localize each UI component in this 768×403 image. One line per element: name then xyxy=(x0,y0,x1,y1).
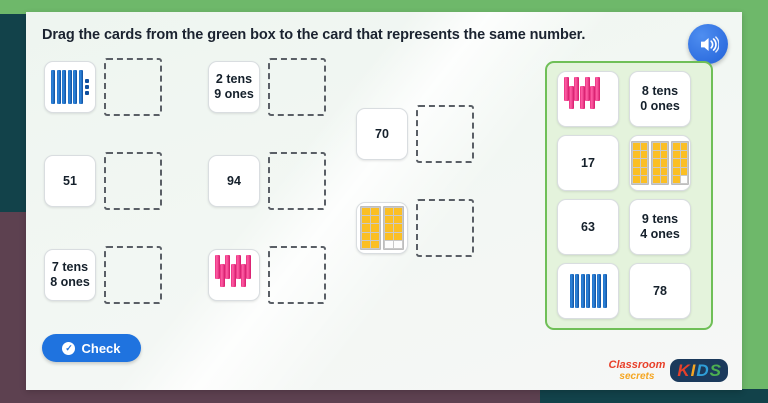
card-label: 94 xyxy=(225,174,243,189)
brand-line-1: Classroom xyxy=(609,360,666,371)
drop-slot[interactable] xyxy=(416,105,474,163)
rod xyxy=(580,86,585,109)
rod xyxy=(62,70,66,104)
counter-cell xyxy=(633,168,640,175)
bank-card[interactable]: 78 xyxy=(629,263,691,319)
counter-cell xyxy=(385,241,393,248)
counter-cell xyxy=(362,216,370,223)
card-label: 8 tens0 ones xyxy=(638,84,682,114)
counter-cell xyxy=(641,176,648,183)
card-label: 7 tens8 ones xyxy=(48,260,92,290)
counter-cell xyxy=(362,208,370,215)
rod xyxy=(574,77,579,101)
counter-cell xyxy=(653,168,660,175)
counter-cell xyxy=(661,143,668,150)
counter-cell xyxy=(673,168,680,175)
counter-cell xyxy=(673,143,680,150)
counter-cell xyxy=(681,151,688,158)
check-button-label: Check xyxy=(81,341,120,356)
bank-card[interactable] xyxy=(629,135,691,191)
target-card[interactable] xyxy=(44,61,96,113)
counter-cell xyxy=(641,159,648,166)
page-title: Drag the cards from the green box to the… xyxy=(42,26,682,44)
bank-card[interactable]: 9 tens4 ones xyxy=(629,199,691,255)
counter-cell xyxy=(633,143,640,150)
counter-cell xyxy=(362,241,370,248)
card-label: 17 xyxy=(579,156,597,171)
app-frame: Drag the cards from the green box to the… xyxy=(0,0,768,403)
target-card[interactable] xyxy=(356,202,408,254)
counter-cell xyxy=(681,176,688,183)
kids-letter-s: S xyxy=(710,362,721,379)
kids-logo: K I D S xyxy=(670,359,728,382)
counter-cell xyxy=(661,176,668,183)
drop-slot[interactable] xyxy=(416,199,474,257)
drop-slot[interactable] xyxy=(104,246,162,304)
kids-letter-i: I xyxy=(691,362,696,379)
counter-cell xyxy=(661,168,668,175)
counter-cell xyxy=(394,216,402,223)
ten-frames xyxy=(357,203,407,253)
target-card[interactable] xyxy=(208,249,260,301)
counter-cell xyxy=(641,151,648,158)
check-circle-icon: ✓ xyxy=(62,342,75,355)
drop-slot[interactable] xyxy=(104,152,162,210)
rod xyxy=(581,274,585,308)
kids-letter-k: K xyxy=(677,362,689,379)
bank-card[interactable]: 8 tens0 ones xyxy=(629,71,691,127)
target-card[interactable]: 2 tens9 ones xyxy=(208,61,260,113)
counter-cell xyxy=(362,233,370,240)
classroom-secrets-logo: Classroom secrets xyxy=(609,360,666,382)
counter-cell xyxy=(641,143,648,150)
counter-cell xyxy=(362,224,370,231)
bank-card[interactable] xyxy=(557,71,619,127)
counter-cell xyxy=(385,224,393,231)
rod xyxy=(79,70,83,104)
counter-cell xyxy=(653,143,660,150)
rod xyxy=(68,70,72,104)
counter-cell xyxy=(641,168,648,175)
counter-cell xyxy=(371,241,379,248)
bank-card[interactable] xyxy=(557,263,619,319)
counter-cell xyxy=(385,208,393,215)
rod xyxy=(246,255,251,279)
counter-cell xyxy=(661,151,668,158)
bank-card[interactable]: 63 xyxy=(557,199,619,255)
counter-cell xyxy=(394,224,402,231)
rod xyxy=(51,70,55,104)
counter-cell xyxy=(385,233,393,240)
rod xyxy=(603,274,607,308)
rod xyxy=(595,77,600,101)
drop-slot[interactable] xyxy=(268,58,326,116)
frame-edge-bottom-purple xyxy=(0,389,556,403)
rod xyxy=(586,274,590,308)
one-cube xyxy=(85,91,89,95)
drop-slot[interactable] xyxy=(104,58,162,116)
frame-edge-bottom-teal xyxy=(540,389,768,403)
counter-cell xyxy=(653,159,660,166)
base-ten-rods xyxy=(558,72,618,126)
counter-cell xyxy=(673,151,680,158)
rod xyxy=(73,70,77,104)
rod xyxy=(575,274,579,308)
rod xyxy=(597,274,601,308)
ten-frame xyxy=(671,141,689,185)
card-label: 63 xyxy=(579,220,597,235)
counter-cell xyxy=(653,151,660,158)
target-card[interactable]: 51 xyxy=(44,155,96,207)
check-button[interactable]: ✓ Check xyxy=(42,334,141,362)
footer-logos: Classroom secrets K I D S xyxy=(609,359,729,382)
counter-cell xyxy=(633,159,640,166)
card-label: 2 tens9 ones xyxy=(212,72,256,102)
card-label: 51 xyxy=(61,174,79,189)
card-label: 78 xyxy=(651,284,669,299)
counter-cell xyxy=(371,208,379,215)
card-label: 70 xyxy=(373,127,391,142)
bank-card[interactable]: 17 xyxy=(557,135,619,191)
counter-cell xyxy=(394,233,402,240)
counter-cell xyxy=(653,176,660,183)
rod xyxy=(231,264,236,287)
target-card[interactable]: 70 xyxy=(356,108,408,160)
counter-cell xyxy=(681,159,688,166)
counter-cell xyxy=(385,216,393,223)
counter-cell xyxy=(371,216,379,223)
rod xyxy=(225,255,230,279)
counter-cell xyxy=(371,224,379,231)
counter-cell xyxy=(681,168,688,175)
rod xyxy=(57,70,61,104)
ten-frame xyxy=(383,206,404,250)
ten-frames xyxy=(630,136,690,190)
one-cube xyxy=(85,79,89,83)
counter-cell xyxy=(633,176,640,183)
ten-frame xyxy=(360,206,381,250)
counter-cell xyxy=(673,159,680,166)
ones-column xyxy=(85,79,89,95)
counter-cell xyxy=(394,241,402,248)
counter-cell xyxy=(661,159,668,166)
one-cube xyxy=(85,85,89,89)
rod xyxy=(592,274,596,308)
green-card-bank: 8 tens0 ones17639 tens4 ones78 xyxy=(545,61,713,330)
counter-cell xyxy=(633,151,640,158)
target-card[interactable]: 7 tens8 ones xyxy=(44,249,96,301)
drop-slot[interactable] xyxy=(268,152,326,210)
base-ten-rods xyxy=(45,62,95,112)
ten-frame xyxy=(651,141,669,185)
counter-cell xyxy=(394,208,402,215)
counter-cell xyxy=(371,233,379,240)
activity-stage: Drag the cards from the green box to the… xyxy=(26,12,742,390)
brand-line-2: secrets xyxy=(619,372,654,382)
counter-cell xyxy=(681,143,688,150)
target-card[interactable]: 94 xyxy=(208,155,260,207)
drop-slot[interactable] xyxy=(268,246,326,304)
ten-frame xyxy=(631,141,649,185)
base-ten-rods xyxy=(558,264,618,318)
counter-cell xyxy=(673,176,680,183)
base-ten-rods xyxy=(209,250,259,300)
rod xyxy=(570,274,574,308)
kids-letter-d: D xyxy=(696,362,708,379)
card-label: 9 tens4 ones xyxy=(638,212,682,242)
speaker-icon[interactable] xyxy=(688,24,728,64)
